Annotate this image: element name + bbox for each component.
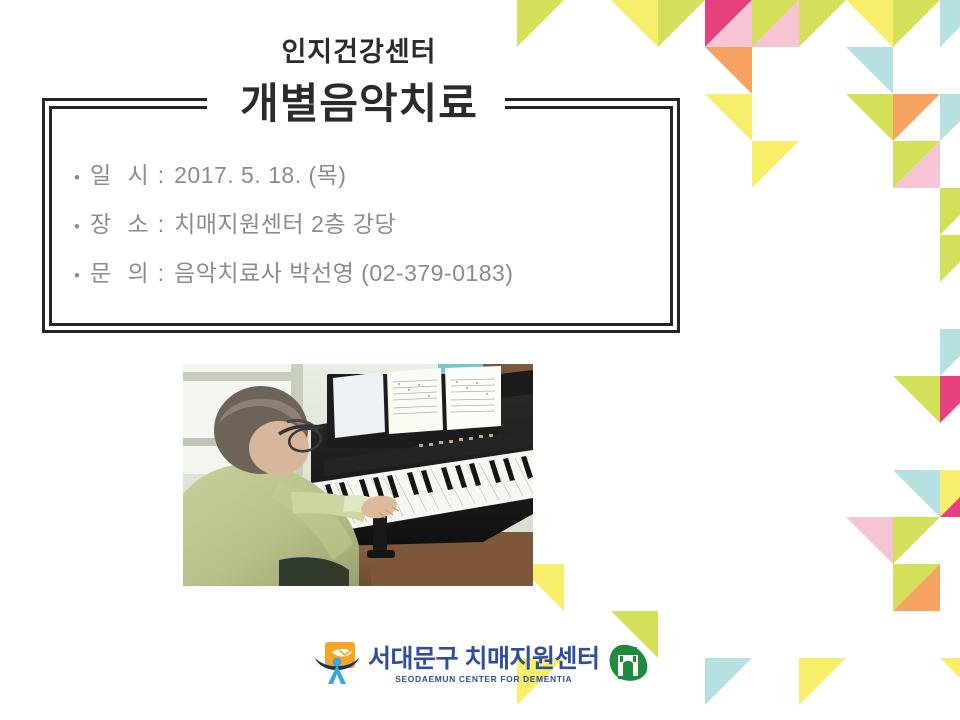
decorative-triangle [893, 564, 940, 611]
person-bird-mark [314, 641, 360, 690]
info-value-location: 치매지원센터 2층 강당 [174, 207, 396, 241]
decorative-triangle [940, 470, 960, 517]
decorative-triangle [940, 470, 960, 517]
decorative-triangle [940, 94, 960, 141]
decorative-triangle [893, 94, 940, 141]
decorative-triangle [893, 0, 940, 47]
bullet-icon: • [74, 161, 90, 195]
decorative-triangle [705, 658, 752, 705]
decorative-triangle [940, 0, 960, 47]
decorative-triangle [752, 141, 799, 188]
info-label-date: 일 시 [90, 158, 158, 192]
decorative-triangle [846, 94, 893, 141]
decorative-triangle [940, 329, 960, 376]
independence-gate-mark [605, 640, 651, 691]
organization-logo: 서대문구 치매지원센터 SEODAEMUN CENTER FOR DEMENTI… [314, 639, 654, 691]
decorative-triangle [940, 235, 960, 282]
frame-bottom-inner [49, 323, 673, 326]
decorative-triangle [799, 0, 846, 47]
info-list: • 일 시 : 2017. 5. 18. (목) • 장 소 : 치매지원센터 … [74, 158, 674, 305]
decorative-triangle [940, 188, 960, 235]
frame-left-inner [49, 106, 52, 326]
piano-photo [183, 364, 533, 586]
poster-canvas: 인지건강센터 개별음악치료 • 일 시 : 2017. 5. 18. (목) •… [0, 0, 960, 720]
bullet-icon: • [74, 259, 90, 293]
info-value-date: 2017. 5. 18. (목) [174, 158, 346, 192]
info-value-contact: 음악치료사 박선영 (02-379-0183) [174, 256, 513, 290]
decorative-triangle [893, 470, 940, 517]
frame-left-outer [42, 98, 45, 333]
logo-title: 서대문구 치매지원센터 [368, 645, 599, 673]
decorative-triangle [893, 141, 940, 188]
decorative-triangle [752, 0, 799, 47]
info-label-contact: 문 의 [90, 256, 158, 290]
decorative-triangle [893, 564, 940, 611]
frame-bottom-outer [42, 330, 680, 333]
page-title: 개별음악치료 [0, 80, 718, 128]
decorative-triangle [940, 376, 960, 423]
decorative-triangle [893, 517, 940, 564]
decorative-triangle [799, 658, 846, 705]
info-separator-date: : [158, 158, 174, 192]
info-row-location: • 장 소 : 치매지원센터 2층 강당 [74, 207, 674, 244]
decorative-triangle [846, 0, 893, 47]
info-separator-location: : [158, 207, 174, 241]
info-row-date: • 일 시 : 2017. 5. 18. (목) [74, 158, 674, 195]
decorative-triangle [846, 517, 893, 564]
decorative-triangle [893, 141, 940, 188]
info-separator-contact: : [158, 256, 174, 290]
decorative-triangle [752, 0, 799, 47]
logo-subtitle: SEODAEMUN CENTER FOR DEMENTIA [368, 675, 599, 684]
decorative-triangle [846, 47, 893, 94]
decorative-triangle [893, 376, 940, 423]
logo-text-block: 서대문구 치매지원센터 SEODAEMUN CENTER FOR DEMENTI… [360, 647, 605, 684]
frame-right-outer [677, 98, 680, 333]
bullet-icon: • [74, 210, 90, 244]
decorative-triangle [940, 658, 960, 705]
info-row-contact: • 문 의 : 음악치료사 박선영 (02-379-0183) [74, 256, 674, 293]
center-name-subtitle: 인지건강센터 [0, 36, 718, 68]
info-label-location: 장 소 [90, 207, 158, 241]
